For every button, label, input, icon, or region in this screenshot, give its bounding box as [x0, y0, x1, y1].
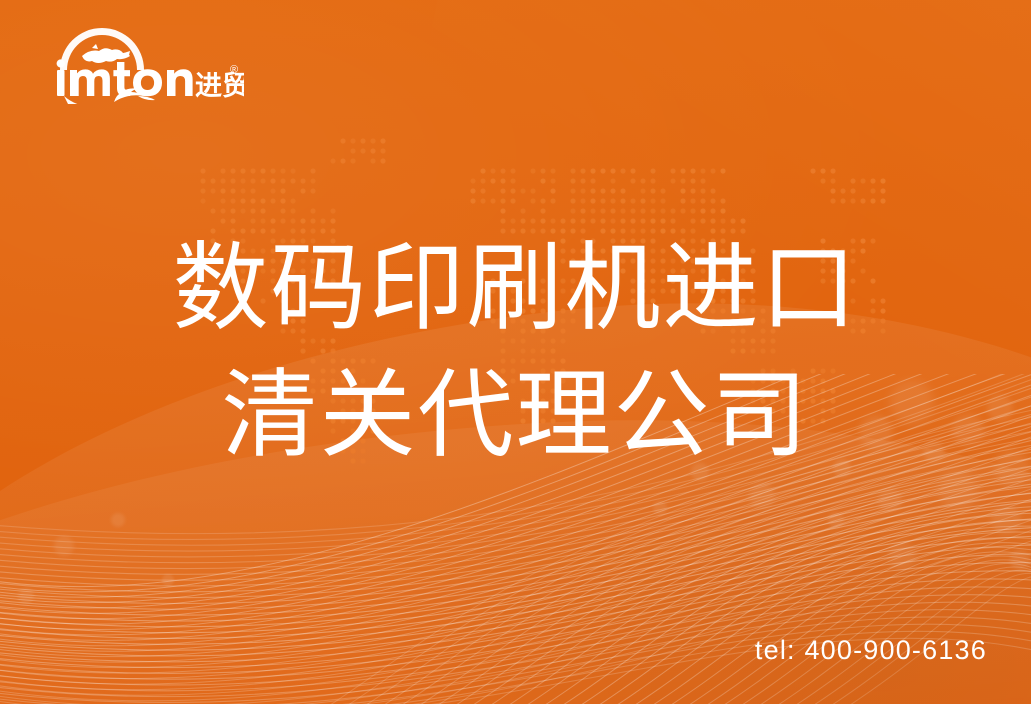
svg-text:®: ® — [230, 64, 238, 76]
headline-line-2: 清关代理公司 — [0, 353, 1031, 480]
headline-line-1: 数码印刷机进口 — [0, 226, 1031, 353]
banner-root: 进贸通 ® 数码印刷机进口 清关代理公司 tel: 400-900-6136 — [0, 0, 1031, 704]
page-title: 数码印刷机进口 清关代理公司 — [0, 226, 1031, 479]
logo-wordmark-chinese: 进贸通 ® — [195, 64, 244, 101]
brand-logo[interactable]: 进贸通 ® — [34, 26, 244, 104]
globe-arc-icon — [60, 28, 144, 70]
contact-telephone[interactable]: tel: 400-900-6136 — [755, 635, 987, 666]
